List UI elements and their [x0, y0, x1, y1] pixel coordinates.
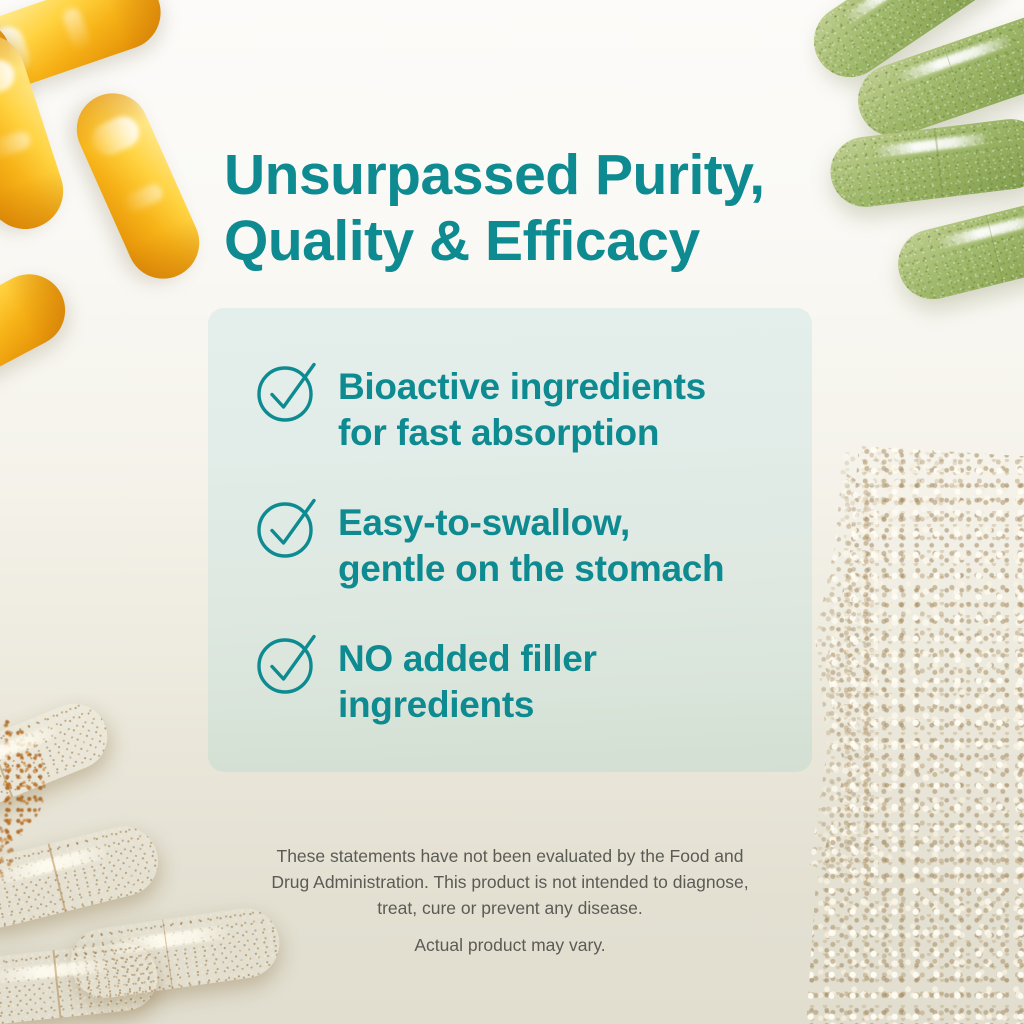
benefit-text-3: NO added filler ingredients — [338, 630, 597, 728]
spilled-turmeric-powder — [0, 820, 16, 886]
benefit-2-line-2: gentle on the stomach — [338, 546, 724, 592]
disclaimer-line-2: Drug Administration. This product is not… — [212, 869, 808, 895]
benefit-1-line-1: Bioactive ingredients — [338, 364, 706, 410]
benefit-3-line-1: NO added filler — [338, 636, 597, 682]
softgel-capsule — [65, 82, 210, 290]
benefit-item-2: Easy-to-swallow, gentle on the stomach — [252, 494, 772, 592]
benefits-card: Bioactive ingredients for fast absorptio… — [208, 308, 812, 772]
disclaimer-line-1: These statements have not been evaluated… — [212, 843, 808, 869]
green-capsule — [848, 6, 1024, 146]
page-title: Unsurpassed Purity, Quality & Efficacy — [224, 142, 844, 274]
check-circle-icon — [252, 354, 324, 426]
protein-powder-speckles — [840, 452, 960, 522]
benefit-item-1: Bioactive ingredients for fast absorptio… — [252, 358, 772, 456]
product-benefits-graphic: Unsurpassed Purity, Quality & Efficacy B… — [0, 0, 1024, 1024]
turmeric-capsule — [0, 940, 161, 1024]
turmeric-capsule — [0, 694, 117, 829]
headline-line-2: Quality & Efficacy — [224, 208, 844, 274]
benefit-text-2: Easy-to-swallow, gentle on the stomach — [338, 494, 724, 592]
yellow-softgel-cluster — [0, 0, 240, 410]
check-circle-icon — [252, 626, 324, 698]
green-capsule — [891, 187, 1024, 306]
green-capsule — [827, 115, 1024, 211]
softgel-capsule — [0, 25, 73, 239]
product-variance-note: Actual product may vary. — [212, 932, 808, 958]
check-circle-icon — [252, 490, 324, 562]
disclaimer-line-3: treat, cure or prevent any disease. — [212, 895, 808, 921]
green-capsule — [800, 0, 1016, 91]
fda-disclaimer: These statements have not been evaluated… — [212, 843, 808, 921]
benefit-text-1: Bioactive ingredients for fast absorptio… — [338, 358, 706, 456]
softgel-capsule — [0, 262, 78, 415]
turmeric-capsule — [0, 819, 165, 935]
softgel-capsule — [0, 0, 171, 101]
benefit-3-line-2: ingredients — [338, 682, 597, 728]
spilled-turmeric-powder — [0, 714, 46, 850]
benefit-item-3: NO added filler ingredients — [252, 630, 772, 728]
softgel-capsule — [0, 8, 24, 134]
headline-line-1: Unsurpassed Purity, — [224, 142, 844, 208]
benefit-1-line-2: for fast absorption — [338, 410, 706, 456]
benefit-2-line-1: Easy-to-swallow, — [338, 500, 724, 546]
